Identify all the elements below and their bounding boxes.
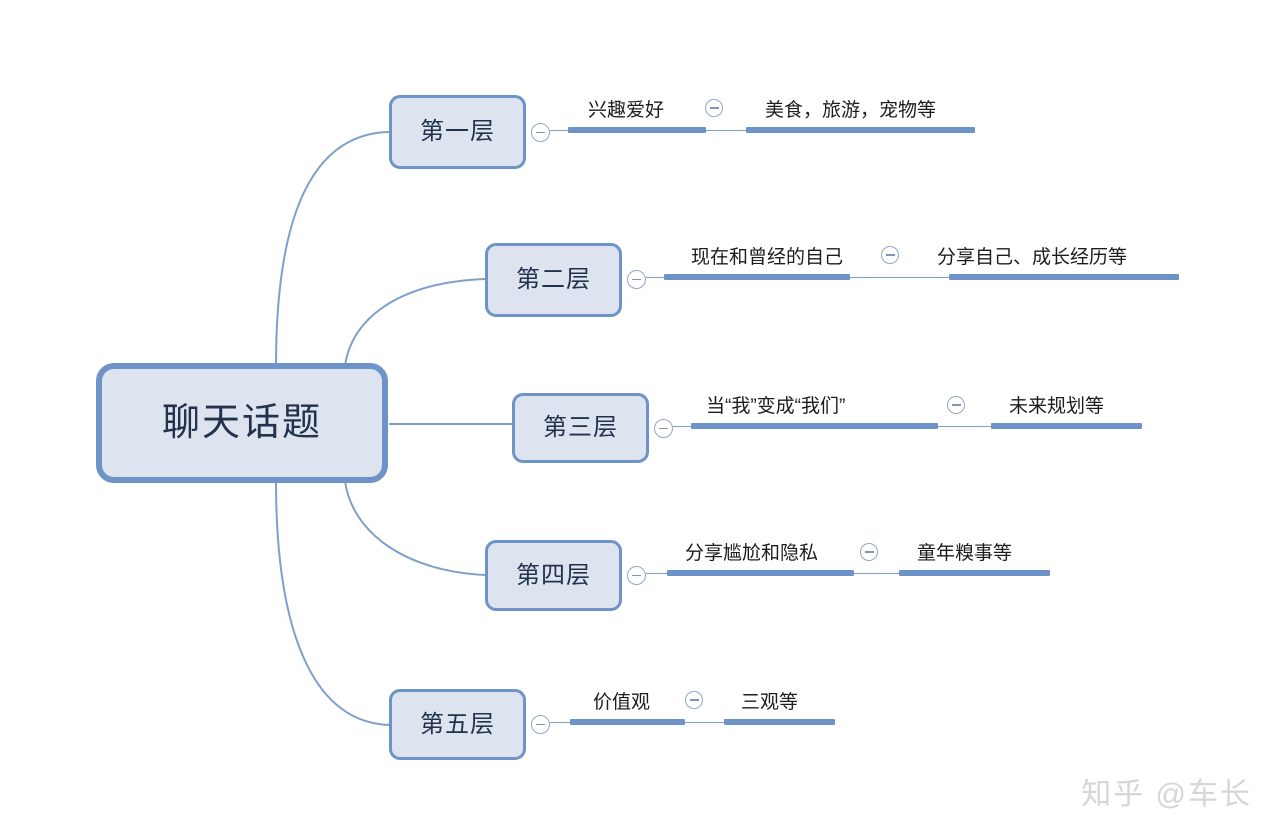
collapse-toggle-node-5[interactable] (531, 715, 550, 734)
underline-bar-3-level3 (991, 423, 1142, 429)
collapse-toggle-branch-3[interactable] (947, 396, 965, 414)
collapse-toggle-node-4[interactable] (627, 566, 646, 585)
root-node-label: 聊天话题 (162, 404, 322, 442)
watermark-text: 知乎 @车长 (1081, 780, 1252, 810)
level3-label-1[interactable]: 美食，旅游，宠物等 (765, 101, 936, 120)
level3-label-5[interactable]: 三观等 (741, 693, 798, 712)
underline-bar-2-level3 (949, 274, 1179, 280)
collapse-toggle-branch-1[interactable] (705, 99, 723, 117)
level3-label-2[interactable]: 分享自己、成长经历等 (937, 248, 1127, 267)
level1-node-2-label: 第二层 (516, 268, 591, 292)
root-node[interactable]: 聊天话题 (96, 363, 388, 483)
level1-node-1[interactable]: 第一层 (389, 95, 526, 169)
underline-bar-3-level2 (691, 423, 938, 429)
level2-label-4[interactable]: 分享尴尬和隐私 (685, 544, 818, 563)
level2-label-5[interactable]: 价值观 (593, 693, 650, 712)
level1-node-1-label: 第一层 (420, 120, 495, 144)
underline-bar-1-level2 (568, 127, 706, 133)
branch-curve-5 (276, 481, 389, 725)
collapse-toggle-branch-2[interactable] (881, 246, 899, 264)
level1-node-5-label: 第五层 (420, 713, 495, 737)
level2-label-3[interactable]: 当“我”变成“我们” (706, 397, 845, 416)
branch-curve-4 (345, 481, 485, 575)
level1-node-3-label: 第三层 (543, 416, 618, 440)
underline-bar-2-level2 (664, 274, 850, 280)
collapse-toggle-branch-4[interactable] (860, 543, 878, 561)
underline-bar-5-level2 (570, 719, 685, 725)
underline-bar-4-level3 (899, 570, 1050, 576)
underline-bar-5-level3 (724, 719, 835, 725)
level1-node-3[interactable]: 第三层 (512, 393, 649, 463)
collapse-toggle-branch-5[interactable] (685, 691, 703, 709)
level2-label-1[interactable]: 兴趣爱好 (588, 101, 664, 120)
level3-label-3[interactable]: 未来规划等 (1009, 397, 1104, 416)
level1-node-2[interactable]: 第二层 (485, 243, 622, 317)
branch-curve-1 (276, 132, 389, 366)
collapse-toggle-node-3[interactable] (654, 419, 673, 438)
collapse-toggle-node-2[interactable] (627, 270, 646, 289)
underline-bar-4-level2 (667, 570, 854, 576)
level2-label-2[interactable]: 现在和曾经的自己 (691, 248, 843, 267)
underline-bar-1-level3 (746, 127, 975, 133)
level1-node-4-label: 第四层 (516, 564, 591, 588)
level3-label-4[interactable]: 童年糗事等 (917, 544, 1012, 563)
collapse-toggle-node-1[interactable] (531, 123, 550, 142)
mindmap-canvas: 聊天话题 第一层 兴趣爱好 美食，旅游，宠物等 第二层 现在和曾经的自己 分享自… (0, 0, 1274, 834)
branch-curve-2 (345, 279, 485, 366)
level1-node-4[interactable]: 第四层 (485, 540, 622, 611)
level1-node-5[interactable]: 第五层 (389, 689, 526, 760)
